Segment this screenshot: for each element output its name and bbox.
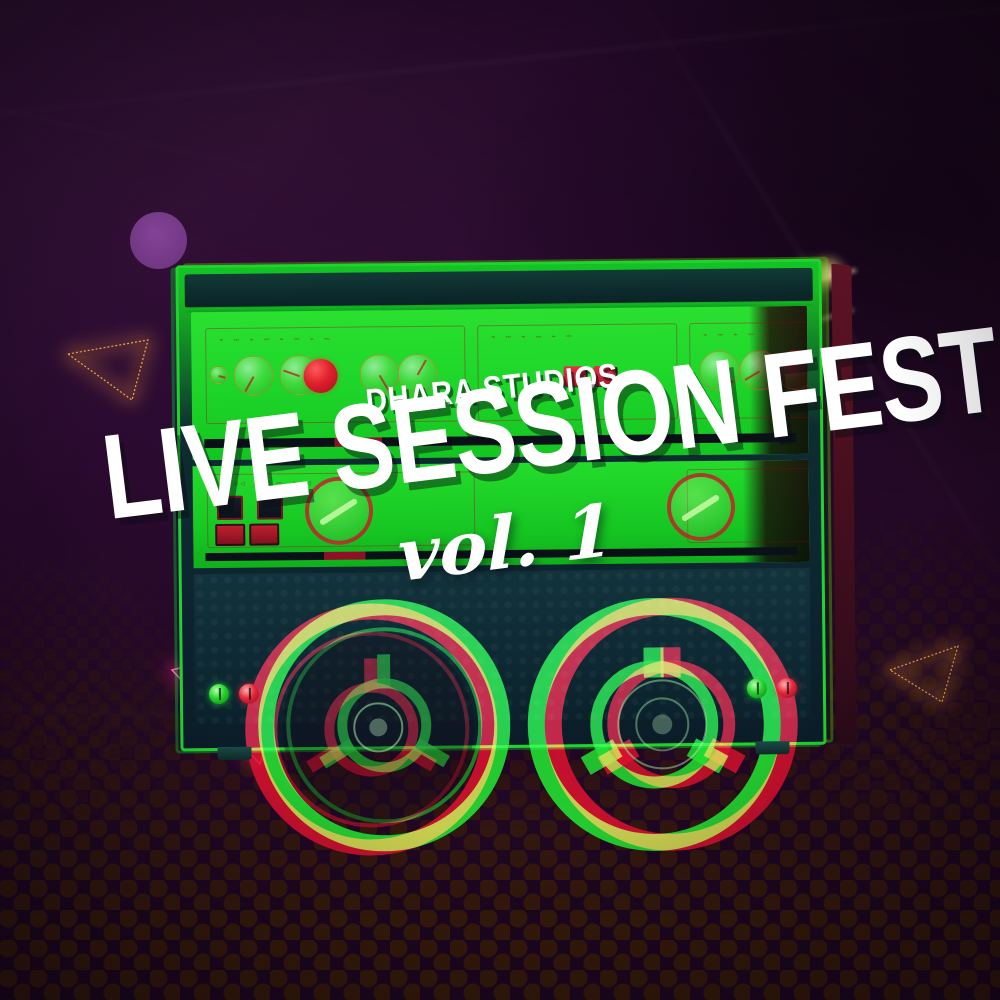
poster-canvas: ⌁ ⎓ ⌁ ⎓ ⌁ ⎓ ⌁ ⎓ ⌁ ⎓ ⌁ ⎓ ⌁ ⎓ ⌁ ⎓ ⌁ ⎓ ⌁ ⎓ … <box>0 0 1000 1000</box>
typography-layer: DHARA STUDIOS LIVE SESSION FEST vol. 1 <box>0 0 1000 1000</box>
